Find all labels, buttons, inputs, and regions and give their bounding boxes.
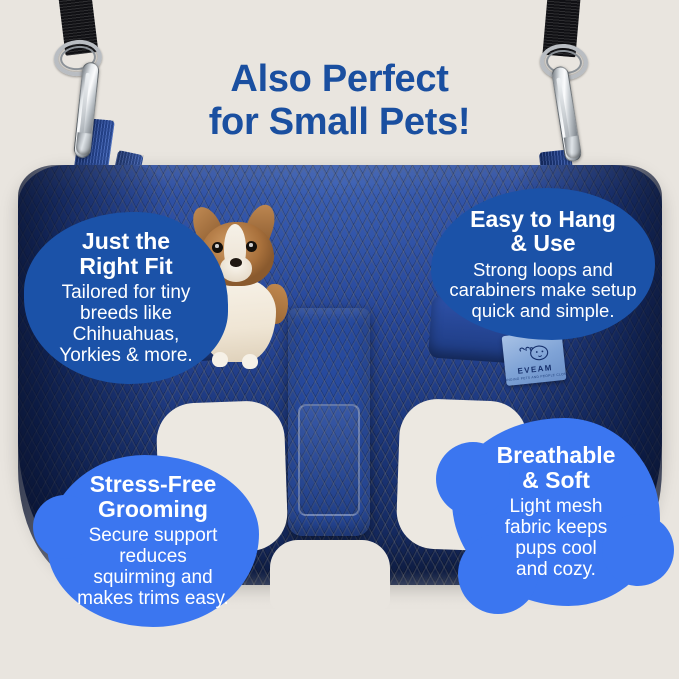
center-strap-stitched-pad bbox=[298, 404, 360, 516]
callout-fit-title-line-1: Just the bbox=[79, 229, 172, 254]
callout-stress-free-grooming: Stress-Free Grooming Secure support redu… bbox=[47, 455, 259, 627]
page-title-line-2: for Small Pets! bbox=[0, 101, 679, 144]
callout-fit-title: Just the Right Fit bbox=[79, 229, 172, 278]
page-title: Also Perfect for Small Pets! bbox=[0, 58, 679, 143]
callout-breathe-body-line-2: fabric keeps bbox=[497, 518, 616, 539]
callout-hang-body-line-3: quick and simple. bbox=[449, 301, 636, 321]
callout-fit-body-line-4: Yorkies & more. bbox=[59, 346, 192, 367]
callout-groom-body: Secure support reduces squirming and mak… bbox=[77, 526, 229, 610]
callout-fit-body: Tailored for tiny breeds like Chihuahuas… bbox=[59, 283, 192, 367]
callout-groom-title: Stress-Free Grooming bbox=[77, 472, 229, 521]
callout-hang-body-line-2: carabiners make setup bbox=[449, 280, 636, 300]
callout-groom-body-line-1: Secure support bbox=[77, 526, 229, 547]
callout-breathable-and-soft: Breathable & Soft Light mesh fabric keep… bbox=[452, 418, 660, 606]
callout-breathe-title: Breathable & Soft bbox=[497, 443, 616, 492]
dog-nose bbox=[230, 258, 242, 267]
callout-fit-body-line-2: breeds like bbox=[59, 304, 192, 325]
infographic-canvas: EVEAM BRINGING PETS AND PEOPLE CLOSER bbox=[0, 0, 679, 679]
callout-hang-title-line-1: Easy to Hang bbox=[470, 207, 616, 232]
callout-breathe-content: Breathable & Soft Light mesh fabric keep… bbox=[497, 443, 616, 581]
callout-breathe-body-line-1: Light mesh bbox=[497, 497, 616, 518]
callout-groom-body-line-2: reduces bbox=[77, 547, 229, 568]
callout-groom-title-line-1: Stress-Free bbox=[77, 472, 229, 497]
callout-groom-body-line-3: squirming and bbox=[77, 568, 229, 589]
callout-fit-title-line-2: Right Fit bbox=[79, 254, 172, 279]
callout-breathe-body-line-4: and cozy. bbox=[497, 560, 616, 581]
callout-groom-content: Stress-Free Grooming Secure support redu… bbox=[77, 472, 229, 610]
dog-paw-right bbox=[242, 354, 258, 369]
dog-paw-left bbox=[212, 352, 228, 367]
callout-breathe-body: Light mesh fabric keeps pups cool and co… bbox=[497, 497, 616, 581]
callout-breathe-title-line-1: Breathable bbox=[497, 443, 616, 468]
callout-hang-title-line-2: & Use bbox=[470, 231, 616, 256]
callout-groom-body-line-4: makes trims easy. bbox=[77, 589, 229, 610]
callout-hang-body: Strong loops and carabiners make setup q… bbox=[449, 260, 636, 321]
callout-fit-body-line-1: Tailored for tiny bbox=[59, 283, 192, 304]
callout-groom-title-line-2: Grooming bbox=[77, 497, 229, 522]
callout-breathe-title-line-2: & Soft bbox=[497, 468, 616, 493]
callout-breathe-body-line-3: pups cool bbox=[497, 539, 616, 560]
page-title-line-1: Also Perfect bbox=[0, 58, 679, 101]
dog-eye-right bbox=[246, 241, 257, 252]
callout-fit-body-line-3: Chihuahuas, bbox=[59, 325, 192, 346]
dog-face-icon bbox=[516, 342, 552, 365]
dog-eye-left bbox=[212, 242, 223, 253]
callout-hang-title: Easy to Hang & Use bbox=[470, 207, 616, 256]
callout-easy-to-hang-and-use: Easy to Hang & Use Strong loops and cara… bbox=[431, 188, 655, 340]
center-velcro-strap bbox=[288, 308, 370, 536]
callout-just-the-right-fit: Just the Right Fit Tailored for tiny bre… bbox=[24, 212, 228, 384]
callout-hang-body-line-1: Strong loops and bbox=[449, 260, 636, 280]
